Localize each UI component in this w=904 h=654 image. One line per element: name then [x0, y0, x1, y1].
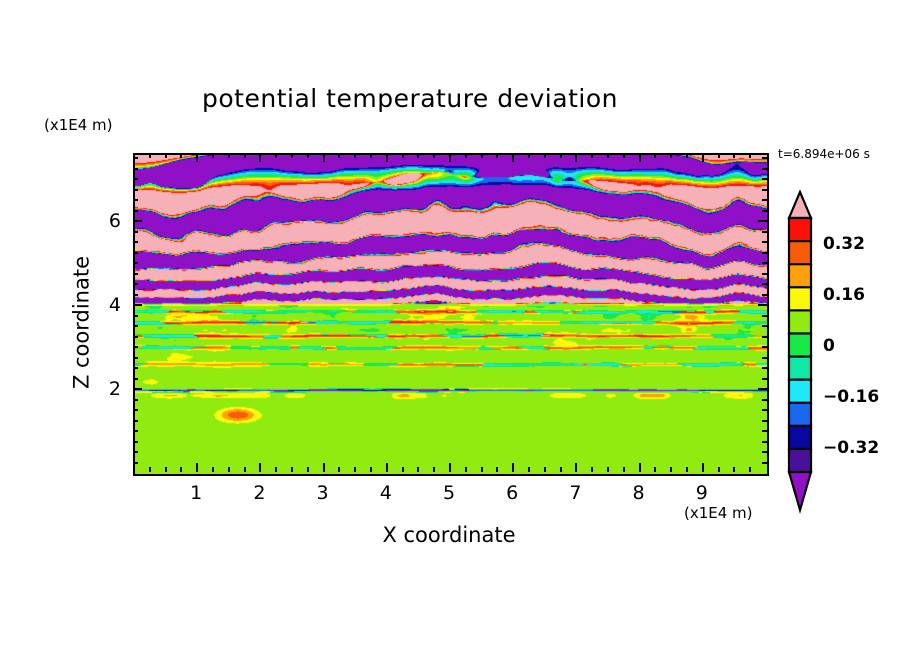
y-tick-minor	[133, 336, 138, 338]
y-tick-minor-right	[762, 462, 767, 464]
y-tick-minor	[133, 346, 138, 348]
x-tick-minor	[338, 467, 340, 472]
contour-plot-area	[133, 153, 769, 476]
x-tick-minor	[465, 467, 467, 472]
x-tick-label: 8	[624, 482, 654, 504]
y-tick-minor-right	[762, 430, 767, 432]
x-tick-minor-top	[275, 153, 277, 158]
x-tick-minor-top	[512, 153, 514, 162]
x-tick-minor	[544, 467, 546, 472]
y-tick-minor	[133, 462, 138, 464]
x-tick-minor-top	[528, 153, 530, 158]
y-tick-minor-right	[762, 157, 767, 159]
colorbar-tick-label: 0.16	[823, 285, 865, 305]
x-tick-minor-top	[354, 153, 356, 158]
x-tick-minor-top	[307, 153, 309, 158]
y-tick-minor	[133, 294, 138, 296]
y-tick-minor-right	[762, 273, 767, 275]
y-tick-minor-right	[762, 262, 767, 264]
colorbar-band	[789, 380, 811, 404]
y-tick-minor	[133, 315, 138, 317]
x-tick-minor	[481, 467, 483, 472]
timestamp-annotation: t=6.894e+06 s	[778, 148, 870, 160]
colorbar-band	[789, 357, 811, 381]
x-tick-minor-top	[417, 153, 419, 158]
y-tick-minor	[133, 210, 138, 212]
x-tick-minor	[165, 467, 167, 472]
page-title: potential temperature deviation	[0, 86, 820, 111]
y-tick-minor-right	[762, 357, 767, 359]
y-tick-minor-right	[762, 252, 767, 254]
x-tick-minor	[623, 467, 625, 472]
x-tick-label: 5	[434, 482, 464, 504]
y-tick-minor-right	[762, 178, 767, 180]
y-tick-label: 6	[91, 210, 121, 232]
z-axis-unit-label: (x1E4 m)	[44, 118, 113, 133]
x-tick-minor	[512, 463, 514, 472]
colorbar-band	[789, 287, 811, 311]
colorbar: 0.320.160−0.16−0.32	[770, 190, 900, 520]
x-tick-label: 2	[244, 482, 274, 504]
x-tick-minor	[259, 463, 261, 472]
y-tick-minor-right	[762, 315, 767, 317]
x-tick-minor-top	[196, 153, 198, 162]
y-tick-minor	[133, 231, 138, 233]
x-tick-minor-top	[686, 153, 688, 158]
x-tick-label: 6	[497, 482, 527, 504]
x-tick-minor	[354, 467, 356, 472]
y-tick-minor	[133, 178, 138, 180]
y-tick-minor	[133, 367, 138, 369]
y-tick-minor-right	[758, 388, 767, 390]
y-tick-minor-right	[762, 210, 767, 212]
y-tick-minor-right	[762, 189, 767, 191]
x-tick-minor-top	[496, 153, 498, 158]
y-tick-minor-right	[762, 241, 767, 243]
x-tick-minor	[196, 463, 198, 472]
x-tick-minor-top	[639, 153, 641, 162]
y-tick-minor	[133, 273, 138, 275]
x-axis-title: X coordinate	[133, 525, 765, 546]
x-tick-minor	[291, 467, 293, 472]
colorbar-tick-label: −0.32	[823, 438, 879, 458]
x-tick-minor-top	[149, 153, 151, 158]
y-tick-minor-right	[762, 409, 767, 411]
y-tick-label: 2	[91, 378, 121, 400]
colorbar-band	[789, 449, 811, 473]
x-tick-minor-top	[402, 153, 404, 158]
y-tick-minor-right	[762, 231, 767, 233]
x-tick-minor-top	[449, 153, 451, 162]
y-tick-minor-right	[762, 325, 767, 327]
x-tick-minor-top	[623, 153, 625, 158]
y-tick-minor-right	[758, 304, 767, 306]
y-tick-minor-right	[762, 199, 767, 201]
x-tick-minor	[307, 467, 309, 472]
x-tick-minor-top	[481, 153, 483, 158]
colorbar-band	[789, 403, 811, 427]
x-tick-minor-top	[544, 153, 546, 158]
x-tick-minor-top	[338, 153, 340, 158]
x-tick-minor	[180, 467, 182, 472]
x-tick-minor-top	[370, 153, 372, 158]
x-tick-minor	[244, 467, 246, 472]
x-tick-minor-top	[560, 153, 562, 158]
y-tick-minor	[133, 430, 138, 432]
x-tick-minor	[639, 463, 641, 472]
y-tick-minor-right	[762, 441, 767, 443]
colorbar-band	[789, 218, 811, 242]
y-tick-minor	[133, 262, 138, 264]
y-axis-title: Z coordinate	[72, 223, 93, 423]
x-tick-minor	[607, 467, 609, 472]
x-tick-minor-top	[702, 153, 704, 162]
y-tick-minor-right	[762, 378, 767, 380]
y-tick-minor	[133, 252, 138, 254]
x-tick-minor	[228, 467, 230, 472]
x-tick-minor	[417, 467, 419, 472]
x-tick-minor	[749, 467, 751, 472]
y-tick-minor	[133, 399, 138, 401]
x-tick-label: 1	[181, 482, 211, 504]
x-tick-minor-top	[433, 153, 435, 158]
x-tick-minor-top	[718, 153, 720, 158]
x-tick-minor-top	[165, 153, 167, 158]
colorbar-band	[789, 426, 811, 450]
x-tick-minor	[386, 463, 388, 472]
y-tick-minor	[133, 241, 138, 243]
x-tick-minor	[591, 467, 593, 472]
colorbar-over-arrow	[789, 192, 811, 218]
y-tick-minor-right	[758, 220, 767, 222]
x-tick-label: 3	[308, 482, 338, 504]
x-tick-minor	[718, 467, 720, 472]
y-tick-minor	[133, 388, 142, 390]
x-tick-minor	[702, 463, 704, 472]
x-tick-minor	[528, 467, 530, 472]
y-tick-label: 4	[91, 294, 121, 316]
x-tick-label: 9	[687, 482, 717, 504]
y-tick-minor	[133, 220, 142, 222]
x-tick-minor	[323, 463, 325, 472]
y-tick-minor	[133, 378, 138, 380]
colorbar-band	[789, 310, 811, 334]
y-tick-minor-right	[762, 346, 767, 348]
y-tick-minor-right	[762, 294, 767, 296]
colorbar-tick-label: 0	[823, 336, 835, 356]
colorbar-tick-label: −0.16	[823, 387, 879, 407]
x-tick-minor	[686, 467, 688, 472]
x-tick-minor-top	[733, 153, 735, 158]
y-tick-minor-right	[762, 420, 767, 422]
x-tick-minor-top	[749, 153, 751, 158]
y-tick-minor-right	[762, 367, 767, 369]
x-tick-minor-top	[180, 153, 182, 158]
x-tick-minor-top	[244, 153, 246, 158]
x-tick-minor-top	[212, 153, 214, 158]
y-tick-minor	[133, 157, 138, 159]
x-tick-minor-top	[323, 153, 325, 162]
x-tick-minor	[496, 467, 498, 472]
x-tick-minor	[575, 463, 577, 472]
x-tick-minor-top	[654, 153, 656, 158]
y-tick-minor	[133, 304, 142, 306]
x-tick-minor	[212, 467, 214, 472]
x-tick-minor	[402, 467, 404, 472]
x-tick-minor	[449, 463, 451, 472]
y-tick-minor-right	[762, 336, 767, 338]
x-tick-minor	[275, 467, 277, 472]
x-tick-minor-top	[291, 153, 293, 158]
x-tick-minor-top	[670, 153, 672, 158]
y-tick-minor	[133, 283, 138, 285]
y-tick-minor-right	[762, 283, 767, 285]
x-axis-unit-label: (x1E4 m)	[684, 506, 753, 521]
colorbar-tick-label: 0.32	[823, 234, 865, 254]
y-tick-minor	[133, 199, 138, 201]
x-tick-minor	[560, 467, 562, 472]
y-tick-minor	[133, 420, 138, 422]
x-tick-minor	[370, 467, 372, 472]
x-tick-minor	[433, 467, 435, 472]
y-tick-minor	[133, 451, 138, 453]
x-tick-minor	[670, 467, 672, 472]
x-tick-minor-top	[575, 153, 577, 162]
y-tick-minor-right	[762, 168, 767, 170]
y-tick-minor	[133, 325, 138, 327]
x-tick-minor-top	[386, 153, 388, 162]
x-tick-minor-top	[465, 153, 467, 158]
x-tick-minor-top	[607, 153, 609, 158]
x-tick-minor-top	[259, 153, 261, 162]
x-tick-minor	[733, 467, 735, 472]
x-tick-label: 4	[371, 482, 401, 504]
colorbar-band	[789, 333, 811, 357]
y-tick-minor	[133, 357, 138, 359]
contour-field	[135, 155, 767, 474]
x-tick-minor-top	[228, 153, 230, 158]
colorbar-under-arrow	[789, 472, 811, 510]
y-tick-minor-right	[762, 399, 767, 401]
x-tick-minor-top	[591, 153, 593, 158]
x-tick-minor	[149, 467, 151, 472]
y-tick-minor	[133, 189, 138, 191]
y-tick-minor	[133, 168, 138, 170]
y-tick-minor	[133, 409, 138, 411]
x-tick-minor	[654, 467, 656, 472]
figure-canvas: potential temperature deviation (x1E4 m)…	[0, 0, 904, 654]
colorbar-band	[789, 264, 811, 288]
y-tick-minor	[133, 441, 138, 443]
x-tick-label: 7	[560, 482, 590, 504]
colorbar-band	[789, 241, 811, 265]
y-tick-minor-right	[762, 451, 767, 453]
